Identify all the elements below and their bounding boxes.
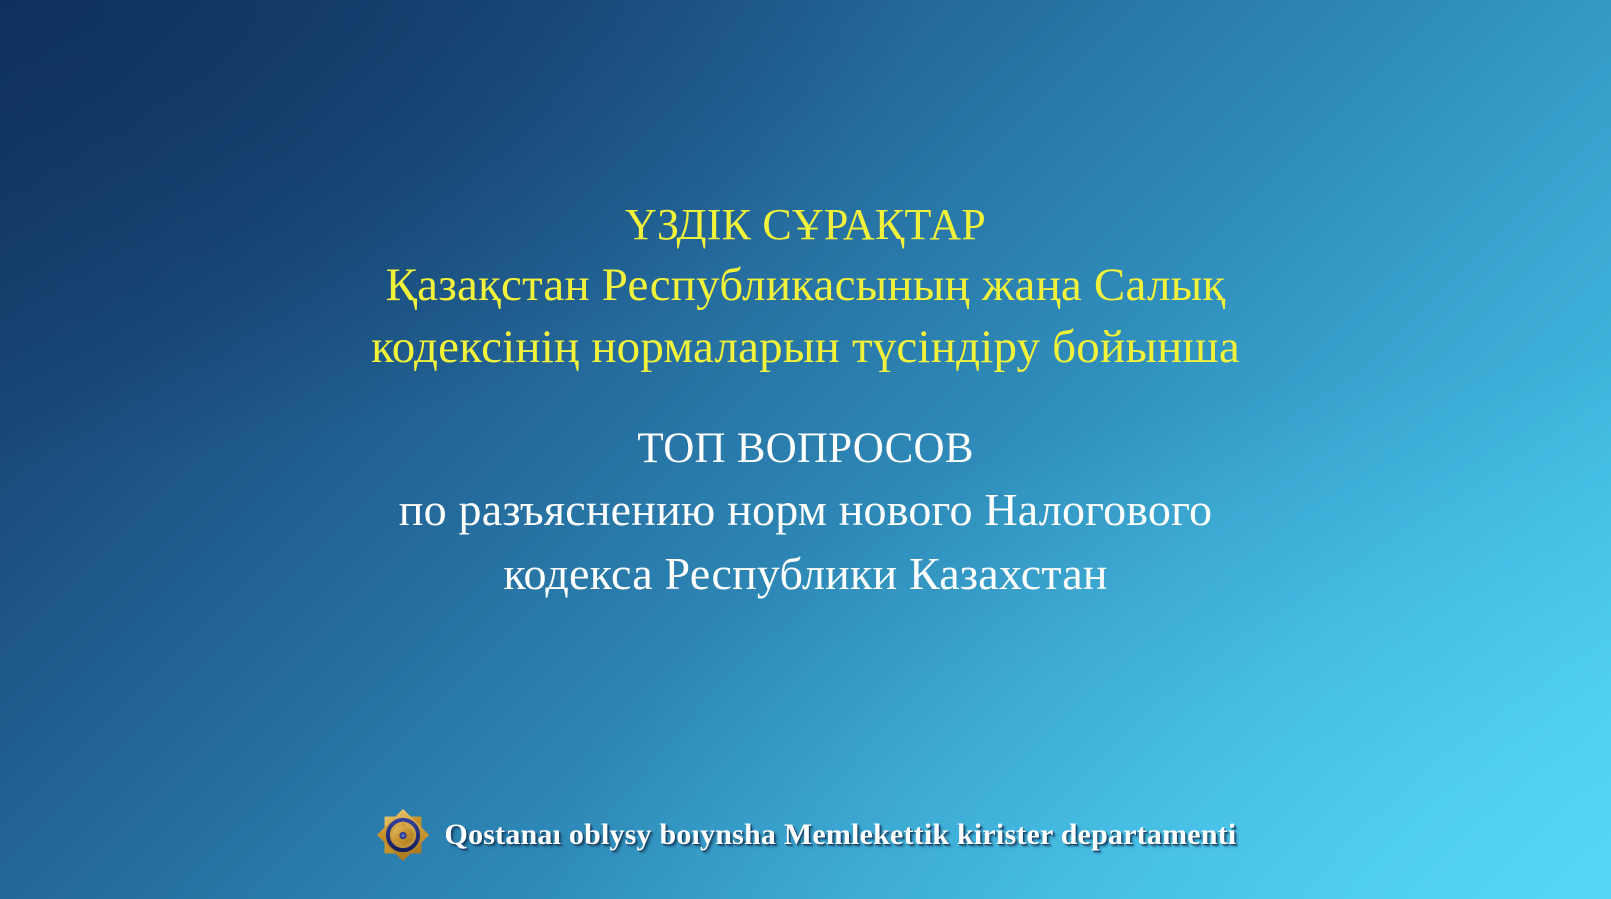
russian-title-block: ТОП ВОПРОСОВ по разъяснению норм нового … <box>0 420 1611 606</box>
presentation-slide: ҮЗДІК СҰРАҚТАР Қазақстан Республикасының… <box>0 0 1611 899</box>
kazakh-title-line-1: ҮЗДІК СҰРАҚТАР <box>0 196 1611 254</box>
russian-title-line-2: по разъяснению норм нового Налогового <box>0 478 1611 542</box>
kazakh-title-line-3: кодексінің нормаларын түсіндіру бойынша <box>0 316 1611 378</box>
russian-title-line-1: ТОП ВОПРОСОВ <box>0 420 1611 478</box>
russian-title-line-3: кодекса Республики Казахстан <box>0 542 1611 606</box>
footer-department-label: Qostanaı oblysy boıynsha Memlekettik kir… <box>445 818 1237 852</box>
slide-content: ҮЗДІК СҰРАҚТАР Қазақстан Республикасының… <box>0 0 1611 899</box>
slide-footer: Qostanaı oblysy boıynsha Memlekettik kir… <box>0 800 1611 870</box>
kazakh-title-line-2: Қазақстан Республикасының жаңа Салық <box>0 254 1611 316</box>
kazakhstan-state-revenue-emblem-icon <box>375 807 431 863</box>
kazakh-title-block: ҮЗДІК СҰРАҚТАР Қазақстан Республикасының… <box>0 196 1611 378</box>
